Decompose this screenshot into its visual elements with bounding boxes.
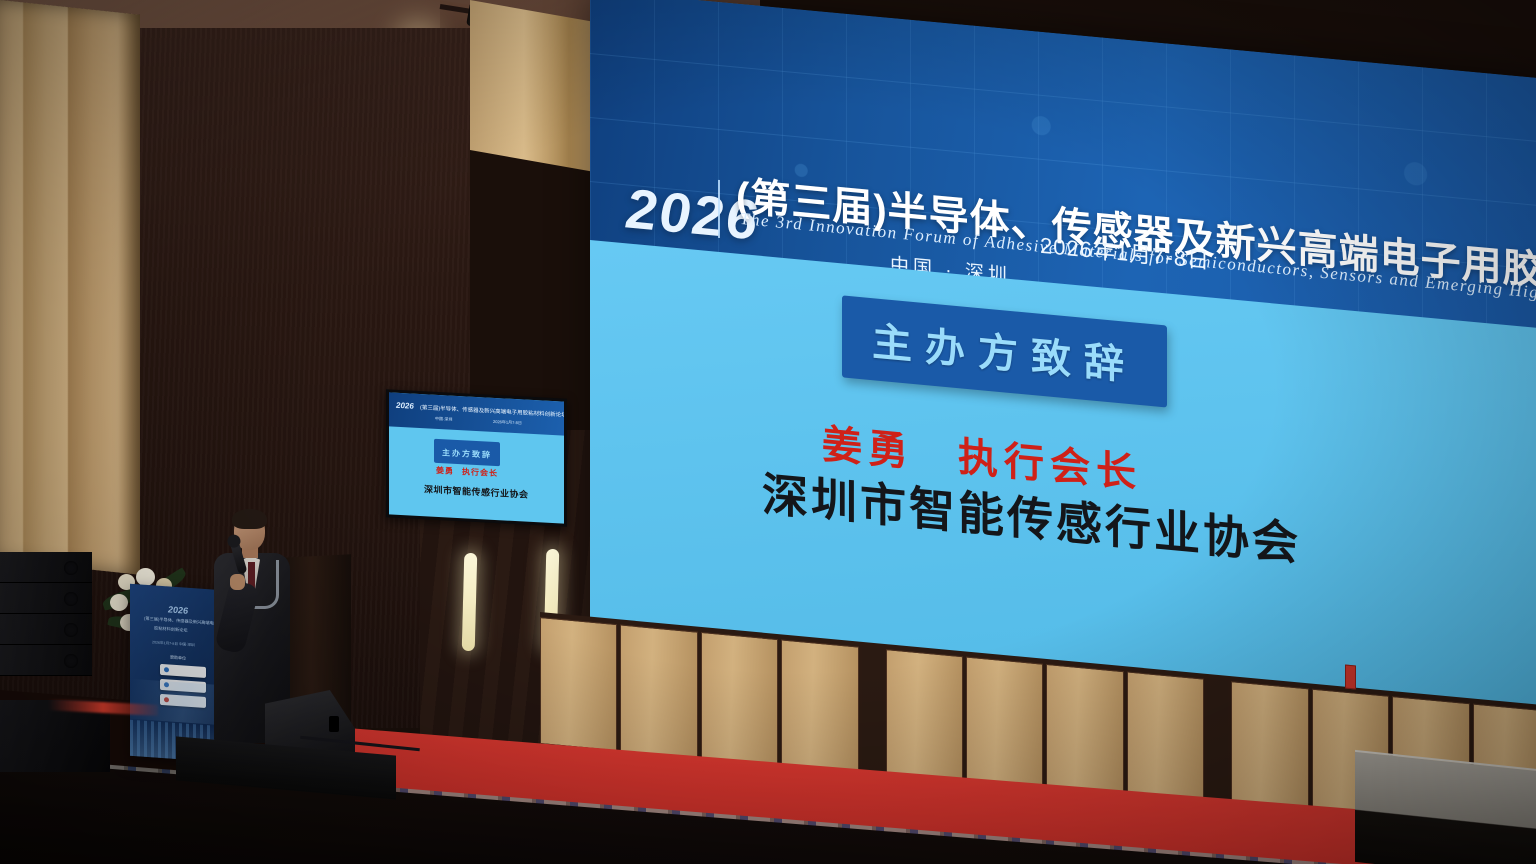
speaker-hair	[232, 509, 267, 529]
banner-divider	[718, 180, 720, 238]
podium-line-2: 胶粘材料创新论坛	[154, 625, 188, 633]
monitor-banner: 2026 (第三届)半导体、传感器及新兴高端电子用胶粘材料创新论坛 中国·深圳 …	[389, 392, 564, 435]
monitor-speaker-line: 姜勇执行会长	[436, 465, 498, 479]
monitor-title-badge: 主办方致辞	[434, 439, 500, 466]
monitor-location: 中国·深圳	[435, 416, 452, 423]
monitor-organization: 深圳市智能传感行业协会	[424, 482, 529, 500]
confidence-monitor: 2026 (第三届)半导体、传感器及新兴高端电子用胶粘材料创新论坛 中国·深圳 …	[386, 389, 567, 526]
exit-sign-icon	[1345, 664, 1356, 689]
monitor-date: 2026年1月7-8日	[493, 419, 522, 427]
podium-line-3: 2026年1月7-8日 中国·深圳	[152, 640, 195, 648]
wall-light-strip	[462, 553, 478, 651]
monitor-speaker-title: 执行会长	[462, 467, 498, 478]
podium-sponsor-label: 赞助单位	[170, 655, 186, 662]
speaker-hand	[230, 574, 245, 590]
monitor-speaker-name: 姜勇	[436, 466, 454, 476]
foreground-panel	[1355, 750, 1536, 864]
podium-logo: 2026	[168, 604, 188, 615]
podium-sponsor-logo	[160, 664, 206, 678]
slide-title-text: 主办方致辞	[872, 320, 1137, 389]
monitor-badge-text: 主办方致辞	[442, 448, 492, 460]
led-screen: 2026 (第三届)半导体、传感器及新兴高端电子用胶粘材料创新论坛 The 3r…	[590, 0, 1536, 739]
conference-hall-photo: 2026 (第三届)半导体、传感器及新兴高端电子用胶粘材料创新论坛 The 3r…	[0, 0, 1536, 864]
wood-wall-panels-left	[0, 0, 140, 575]
monitor-year: 2026	[396, 401, 414, 411]
